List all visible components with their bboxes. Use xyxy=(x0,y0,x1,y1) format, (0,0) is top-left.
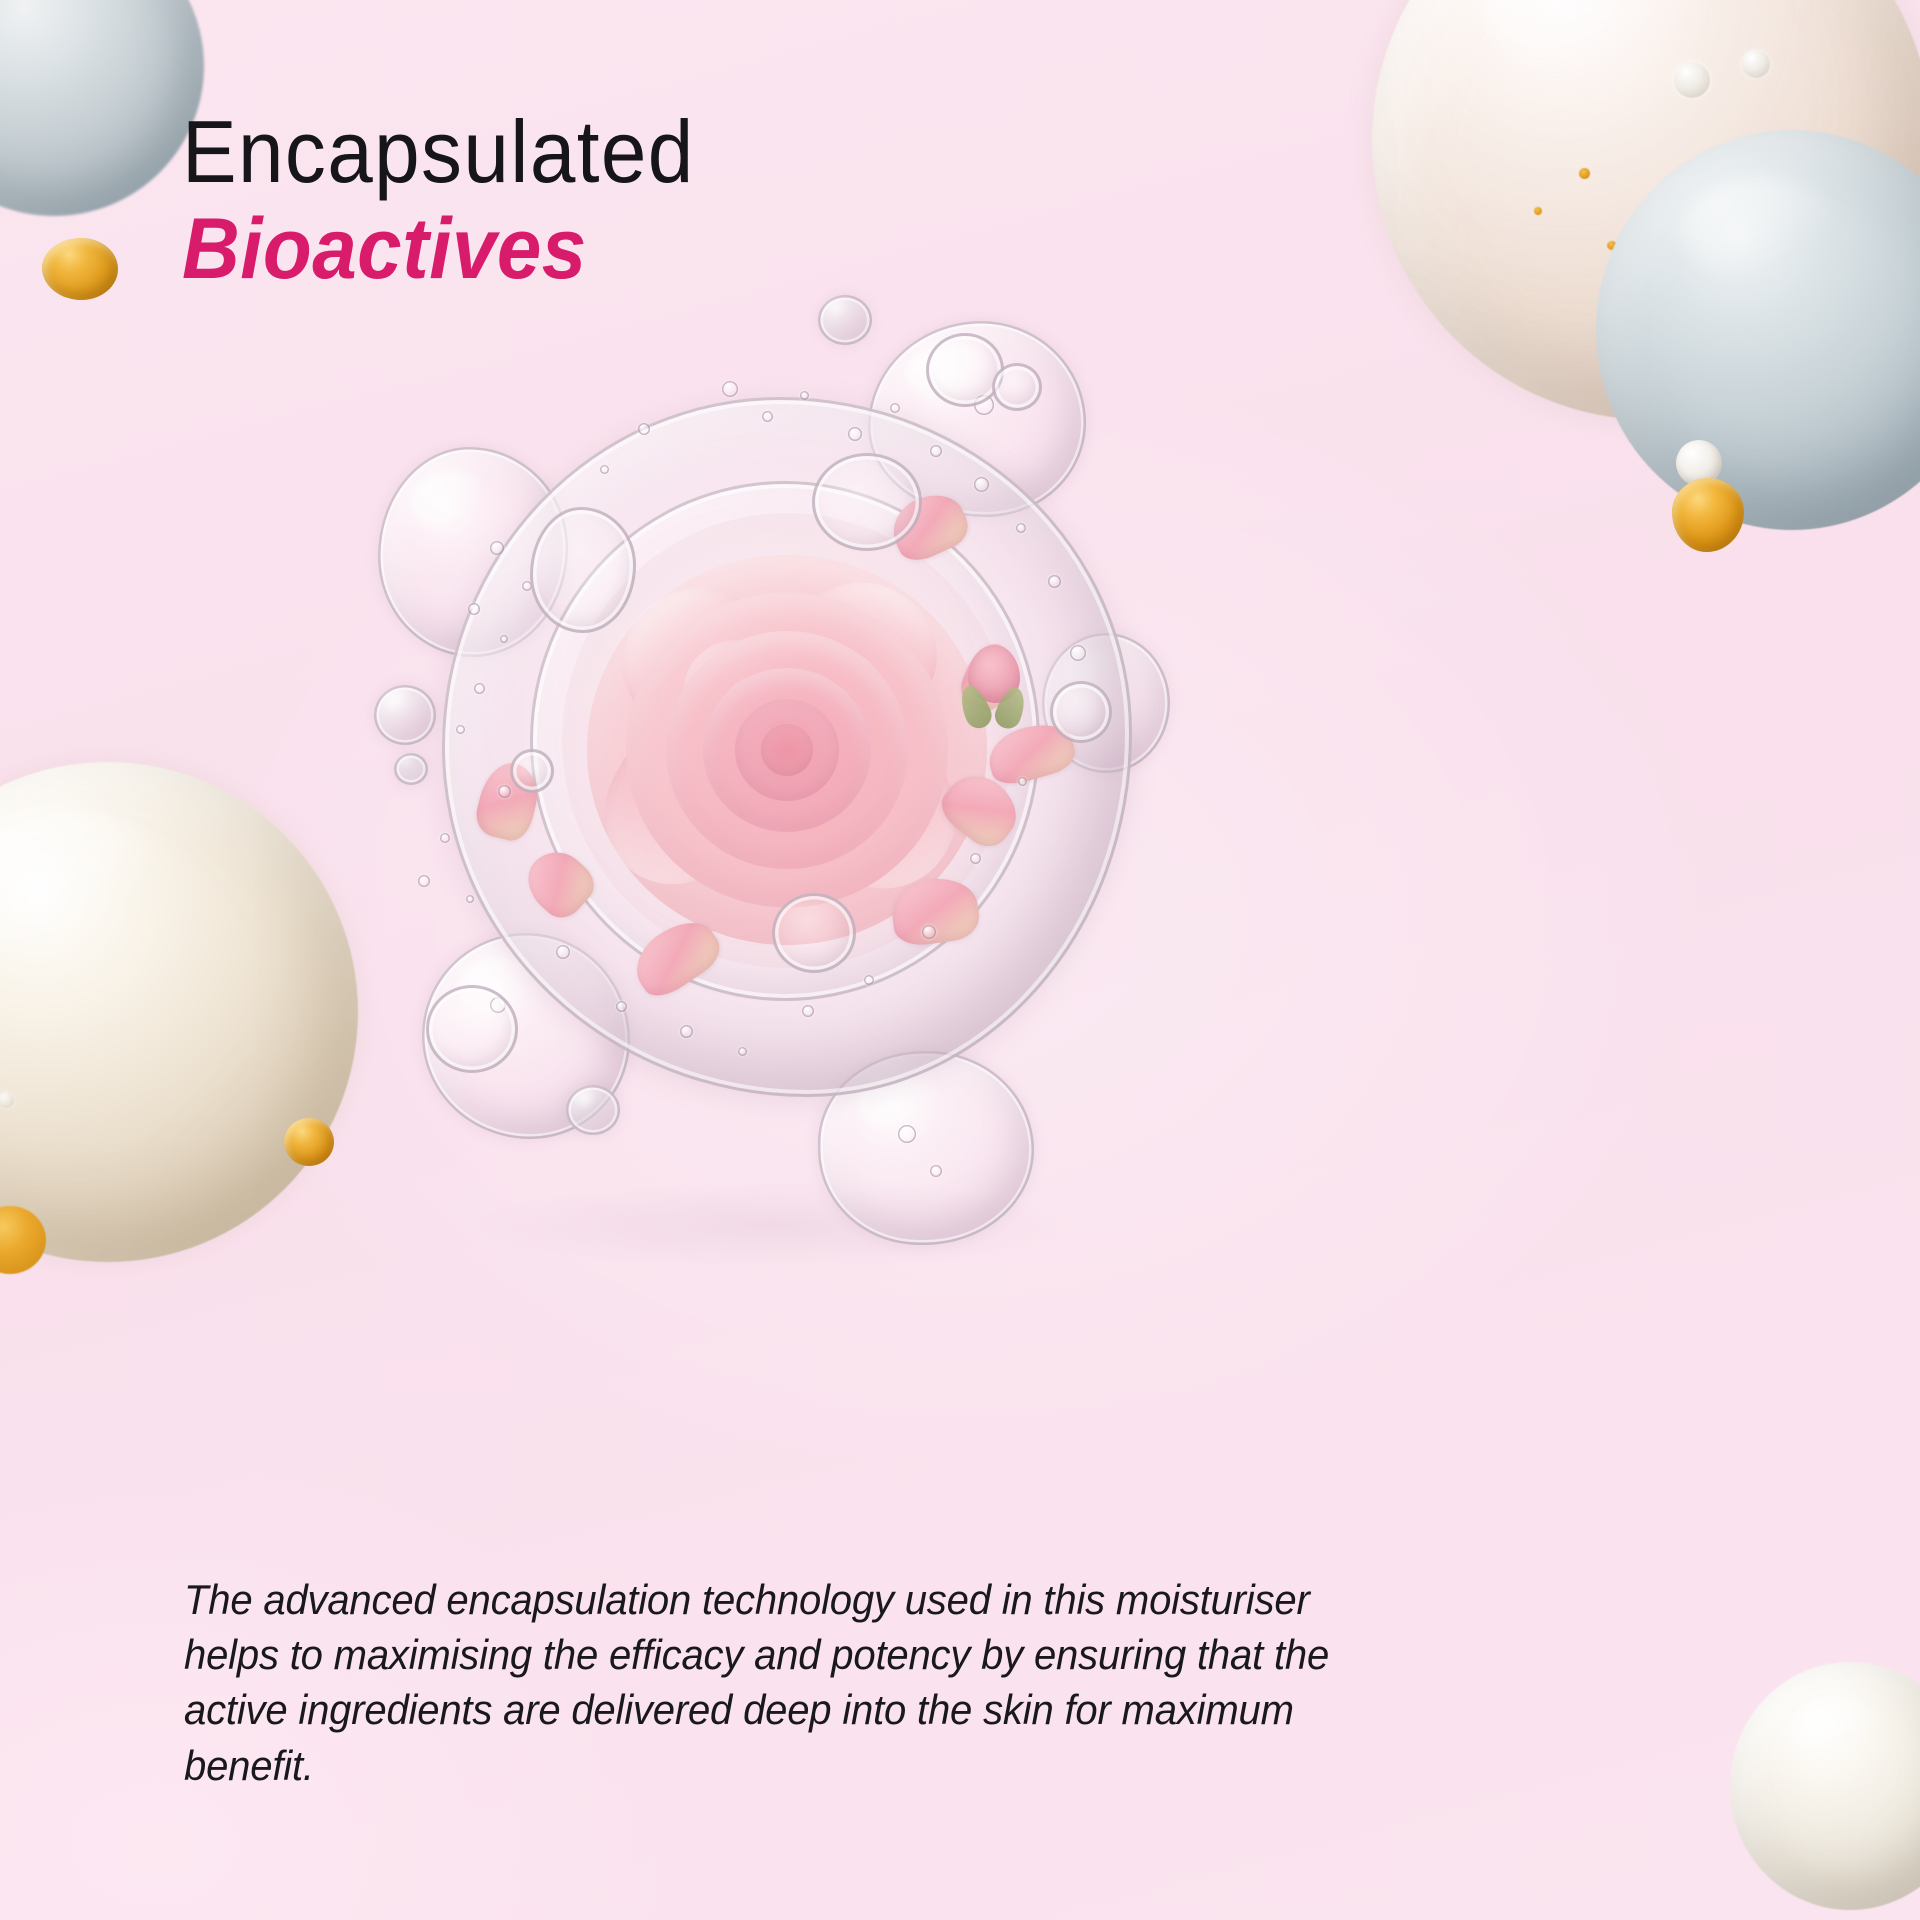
micro-bubble xyxy=(440,833,450,843)
amber-oil-droplet-top-left xyxy=(42,238,118,300)
micro-bubble xyxy=(1016,523,1026,533)
ring-bubble xyxy=(992,363,1042,411)
pearl-bead-icon xyxy=(1742,50,1770,78)
micro-bubble xyxy=(848,427,862,441)
ring-bubble xyxy=(812,453,922,551)
gold-fleck-icon xyxy=(1579,168,1590,179)
micro-bubble xyxy=(722,381,738,397)
micro-bubble xyxy=(490,541,504,555)
micro-bubble xyxy=(500,635,508,643)
micro-bubble xyxy=(930,1165,942,1177)
micro-bubble xyxy=(456,725,465,734)
micro-bubble xyxy=(922,925,936,939)
micro-bubble xyxy=(1018,777,1027,786)
micro-bubble xyxy=(600,465,609,474)
ring-bubble xyxy=(926,333,1004,407)
ring-bubble xyxy=(1050,681,1112,743)
micro-bubble xyxy=(498,785,511,798)
micro-bubble xyxy=(474,683,485,694)
micro-bubble xyxy=(1070,645,1086,661)
headline-line-primary: Encapsulated xyxy=(182,108,695,196)
micro-bubble xyxy=(930,445,942,457)
micro-bubble xyxy=(680,1025,693,1038)
ring-bubble xyxy=(772,893,856,973)
micro-bubble xyxy=(468,603,480,615)
floating-bubble-small xyxy=(818,295,872,345)
micro-bubble xyxy=(800,391,809,400)
micro-bubble xyxy=(898,1125,916,1143)
micro-bubble xyxy=(890,403,900,413)
micro-bubble xyxy=(556,945,570,959)
micro-bubble xyxy=(802,1005,814,1017)
pearl-bead-icon xyxy=(1674,62,1710,98)
poster-canvas: Encapsulated Bioactives The advanced enc… xyxy=(0,0,1920,1920)
micro-bubble xyxy=(974,477,989,492)
floating-bubble-small xyxy=(394,753,428,785)
micro-bubble xyxy=(864,975,874,985)
hero-gel-bubble-cluster xyxy=(370,285,1200,1285)
amber-oil-droplet-bottom-left xyxy=(284,1118,334,1166)
body-paragraph: The advanced encapsulation technology us… xyxy=(184,1572,1400,1793)
micro-bubble xyxy=(970,853,981,864)
gold-fleck-icon xyxy=(1534,207,1542,215)
floating-bubble-small xyxy=(374,685,436,745)
rose-bud xyxy=(960,645,1028,731)
ring-bubble xyxy=(426,985,518,1073)
pearl-bead-icon xyxy=(0,1092,14,1108)
micro-bubble xyxy=(1048,575,1061,588)
micro-bubble xyxy=(638,423,650,435)
micro-bubble xyxy=(418,875,430,887)
ring-bubble xyxy=(510,749,554,793)
micro-bubble xyxy=(616,1001,627,1012)
micro-bubble xyxy=(762,411,773,422)
headline-line-accent: Bioactives xyxy=(182,206,695,292)
micro-bubble xyxy=(466,895,474,903)
micro-bubble xyxy=(738,1047,747,1056)
headline-block: Encapsulated Bioactives xyxy=(182,108,733,292)
floating-bubble-small xyxy=(566,1085,620,1135)
